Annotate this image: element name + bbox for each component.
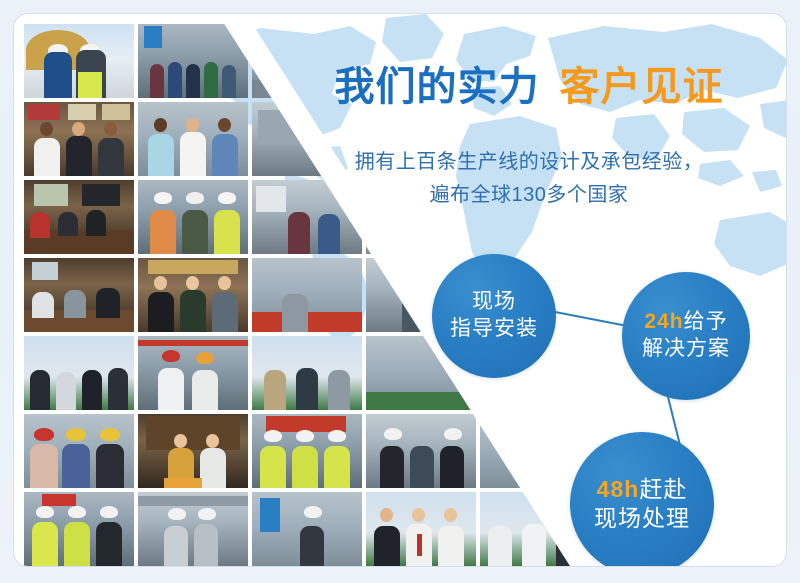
subtitle: 拥有上百条生产线的设计及承包经验， 遍布全球130多个国家 xyxy=(286,146,772,212)
photo-cell xyxy=(366,492,476,566)
title-accent: 客户见证 xyxy=(560,65,724,109)
24h-solution-badge[interactable]: 24h给予 解决方案 xyxy=(622,272,750,400)
page-title: 我们的实力客户见证 xyxy=(286,64,772,110)
photo-cell xyxy=(24,414,134,488)
badge-1-line-2: 指导安装 xyxy=(450,316,538,343)
photo-cell xyxy=(138,258,248,332)
badge-2-line-1: 24h给予 xyxy=(644,309,727,336)
badge-2-line-2: 解决方案 xyxy=(642,336,730,363)
photo-cell xyxy=(24,180,134,254)
badge-1-line-1: 现场 xyxy=(472,289,516,316)
badge-3-line-1-rest: 赶赴 xyxy=(639,476,687,502)
badge-3-line-2: 现场处理 xyxy=(594,504,690,533)
photo-cell xyxy=(252,492,362,566)
banner-card: 我们的实力客户见证 拥有上百条生产线的设计及承包经验， 遍布全球130多个国家 … xyxy=(14,14,786,566)
photo-cell xyxy=(252,258,362,332)
photo-cell xyxy=(24,102,134,176)
promo-banner: 我们的实力客户见证 拥有上百条生产线的设计及承包经验， 遍布全球130多个国家 … xyxy=(0,0,800,583)
photo-cell xyxy=(138,336,248,410)
badge-2-line-1-rest: 给予 xyxy=(684,310,728,333)
photo-cell xyxy=(366,414,476,488)
photo-cell xyxy=(24,336,134,410)
badge-3-highlight: 48h xyxy=(597,476,640,502)
photo-cell xyxy=(252,414,362,488)
photo-cell xyxy=(24,258,134,332)
title-primary: 我们的实力 xyxy=(335,65,540,109)
badge-2-highlight: 24h xyxy=(644,310,683,333)
photo-cell xyxy=(138,180,248,254)
subtitle-line-2: 遍布全球130多个国家 xyxy=(286,179,772,212)
photo-cell xyxy=(252,336,362,410)
subtitle-line-1: 拥有上百条生产线的设计及承包经验， xyxy=(286,146,772,179)
photo-cell xyxy=(24,492,134,566)
on-site-installation-badge[interactable]: 现场 指导安装 xyxy=(432,254,556,378)
photo-cell xyxy=(138,492,248,566)
badge-3-line-1: 48h赶赴 xyxy=(597,475,688,504)
48h-onsite-badge[interactable]: 48h赶赴 现场处理 xyxy=(570,432,714,566)
photo-cell xyxy=(138,414,248,488)
photo-cell xyxy=(138,102,248,176)
photo-cell xyxy=(24,24,134,98)
